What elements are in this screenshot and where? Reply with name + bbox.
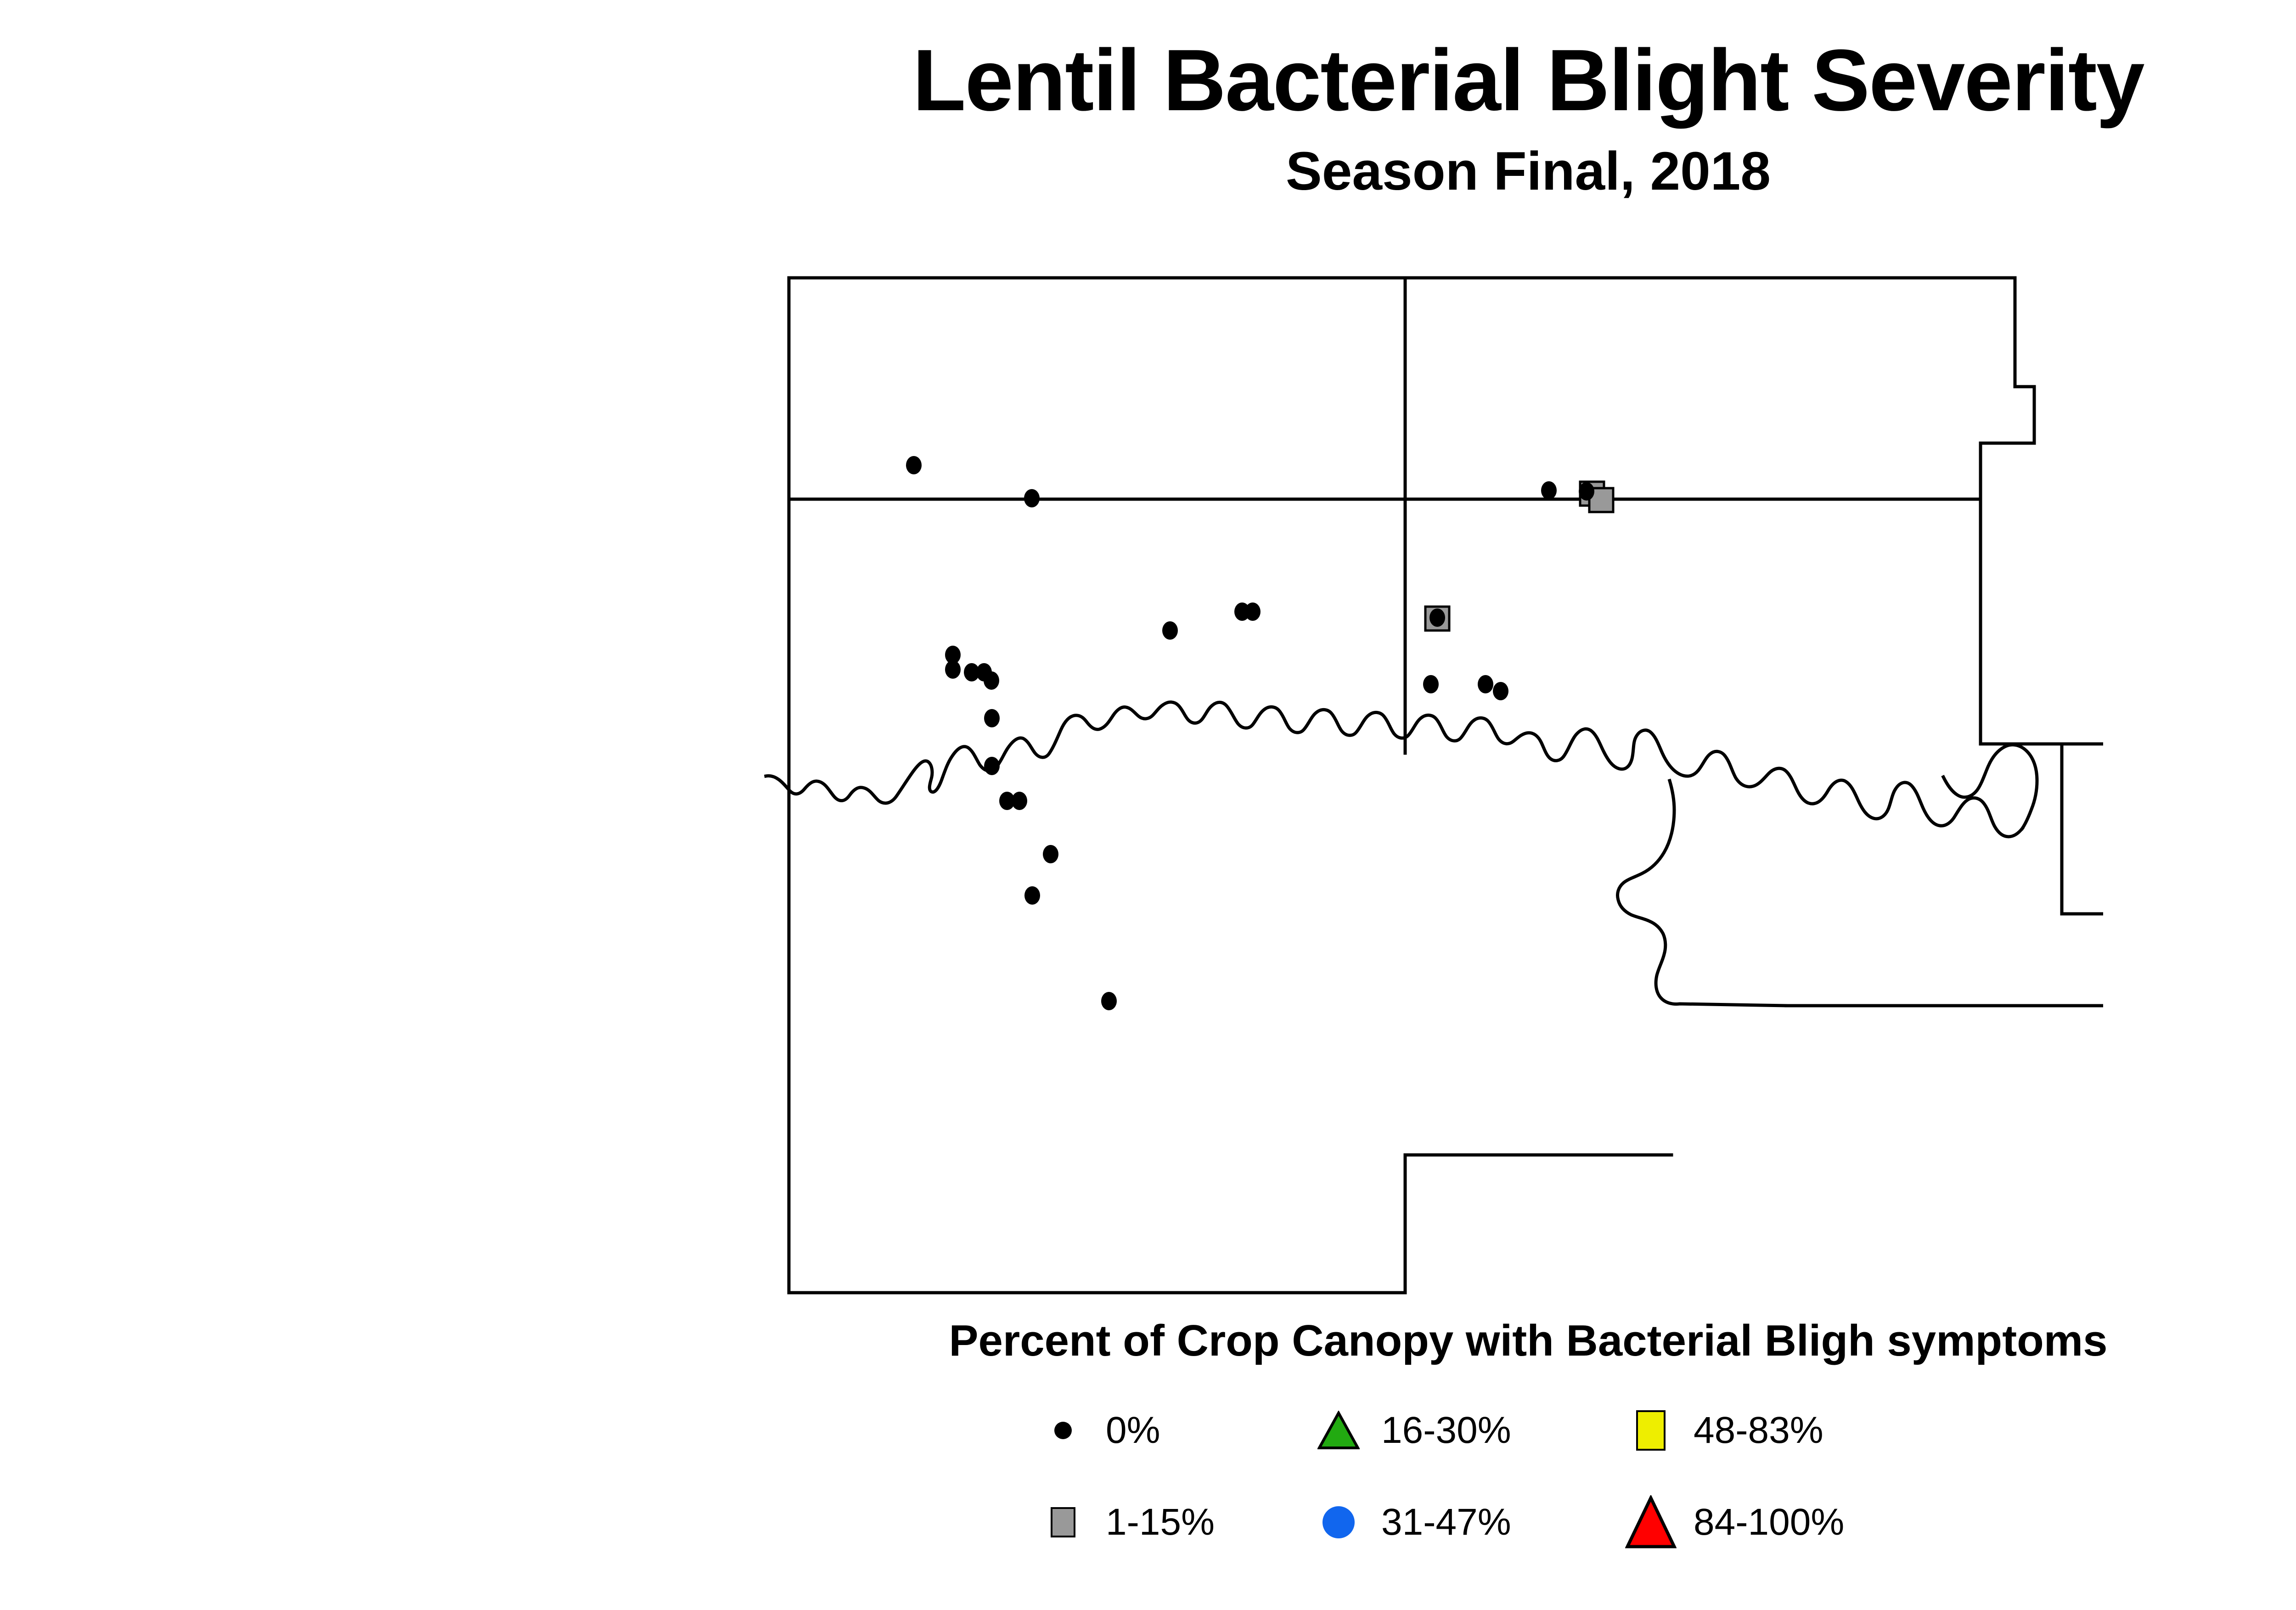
map-point-0[interactable] <box>1493 682 1508 700</box>
map-point-0[interactable] <box>1012 792 1027 810</box>
map-point-0[interactable] <box>1579 482 1594 501</box>
legend-item-1-15pct[interactable]: 1-15% <box>1029 1476 1304 1568</box>
boundary-ne-county <box>1405 278 2034 499</box>
map-point-0[interactable] <box>945 660 961 679</box>
blue-circle-icon <box>1304 1506 1373 1538</box>
yellow-square-icon <box>1616 1410 1685 1451</box>
map-point-0[interactable] <box>1024 886 1040 905</box>
map-point-0[interactable] <box>1541 481 1557 500</box>
page-subtitle: Season Final, 2018 <box>0 144 2296 198</box>
legend-item-84-100pct[interactable]: 84-100% <box>1616 1476 1947 1568</box>
river-boundary-southwest <box>1618 781 1787 1006</box>
legend-item-0pct[interactable]: 0% <box>1029 1385 1304 1476</box>
legend-item-31-47pct[interactable]: 31-47% <box>1304 1476 1616 1568</box>
map-canvas <box>762 257 2103 1313</box>
river-boundary <box>766 702 2022 837</box>
gray-square-icon <box>1029 1507 1097 1537</box>
map-data-points <box>906 456 1613 1010</box>
boundary-southwest-county <box>789 499 1671 1293</box>
map-point-0[interactable] <box>1423 675 1439 693</box>
map-point-0[interactable] <box>1162 621 1178 640</box>
map-boundaries <box>766 278 2103 1293</box>
legend-label-84-100pct: 84-100% <box>1685 1501 1844 1544</box>
boundary-west-county <box>789 499 1405 645</box>
figure-root: Lentil Bacterial Blight Severity Season … <box>0 0 2296 1610</box>
legend-item-16-30pct[interactable]: 16-30% <box>1304 1385 1616 1476</box>
legend: 0% 16-30% 48-83% 1-15% <box>1029 1385 1947 1568</box>
boundary-nw-county <box>789 278 1405 499</box>
map-point-0[interactable] <box>984 671 999 690</box>
map-point-0[interactable] <box>1024 489 1040 507</box>
legend-item-48-83pct[interactable]: 48-83% <box>1616 1385 1947 1476</box>
green-triangle-icon <box>1304 1411 1373 1450</box>
map-point-0[interactable] <box>1429 608 1445 627</box>
map-point-0[interactable] <box>1101 992 1117 1010</box>
title-block: Lentil Bacterial Blight Severity Season … <box>0 37 2296 198</box>
map-point-0[interactable] <box>1245 602 1261 621</box>
page-title: Lentil Bacterial Blight Severity <box>0 37 2296 124</box>
legend-label-16-30pct: 16-30% <box>1373 1409 1511 1452</box>
black-dot-icon <box>1029 1422 1097 1439</box>
map-point-0[interactable] <box>1478 675 1493 693</box>
map-svg <box>762 257 2103 1313</box>
legend-label-1-15pct: 1-15% <box>1097 1501 1215 1544</box>
legend-label-0pct: 0% <box>1097 1409 1160 1452</box>
legend-label-31-47pct: 31-47% <box>1373 1501 1511 1544</box>
map-point-0[interactable] <box>1043 845 1058 863</box>
red-triangle-icon <box>1616 1495 1685 1549</box>
map-point-0[interactable] <box>984 757 1000 775</box>
legend-label-48-83pct: 48-83% <box>1685 1409 1823 1452</box>
map-point-0[interactable] <box>906 456 922 474</box>
legend-title: Percent of Crop Canopy with Bacterial Bl… <box>0 1316 2296 1366</box>
map-point-0[interactable] <box>984 709 1000 727</box>
